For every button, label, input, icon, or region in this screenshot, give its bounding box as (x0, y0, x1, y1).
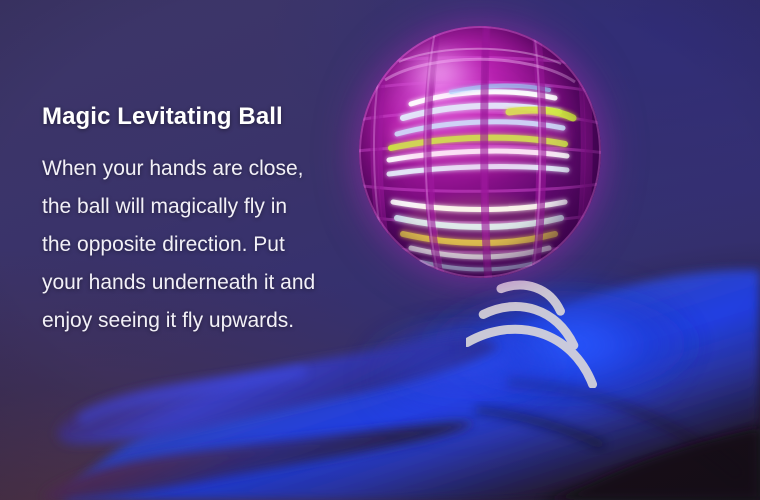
copy-block: Magic Levitating Ball When your hands ar… (42, 104, 320, 340)
body-copy: When your hands are close, the ball will… (42, 150, 320, 340)
headline: Magic Levitating Ball (42, 104, 320, 130)
product-image-scene: Magic Levitating Ball When your hands ar… (0, 0, 760, 500)
